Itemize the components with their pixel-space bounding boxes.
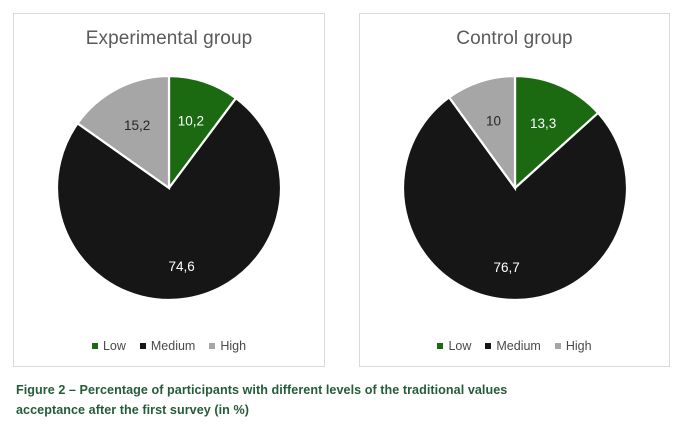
- legend-experimental: Low Medium High: [14, 340, 324, 353]
- legend-label-medium: Medium: [151, 340, 195, 353]
- chart-title-experimental: Experimental group: [14, 28, 324, 50]
- legend-label-high: High: [220, 340, 246, 353]
- figure-caption: Figure 2 – Percentage of participants wi…: [16, 381, 656, 420]
- chart-title-control: Control group: [360, 28, 669, 50]
- legend-label-high: High: [566, 340, 592, 353]
- legend-item-high[interactable]: High: [555, 340, 592, 353]
- pie-chart-experimental: 10,274,615,2: [51, 70, 287, 306]
- legend-item-high[interactable]: High: [209, 340, 246, 353]
- chart-card-experimental: Experimental group 10,274,615,2 Low Medi…: [13, 13, 325, 367]
- legend-label-low: Low: [103, 340, 126, 353]
- charts-row: Experimental group 10,274,615,2 Low Medi…: [0, 0, 680, 370]
- legend-control: Low Medium High: [360, 340, 669, 353]
- pie-chart-control: 13,376,710: [397, 70, 633, 306]
- figure-container: Experimental group 10,274,615,2 Low Medi…: [0, 0, 680, 429]
- legend-swatch-medium-icon: [485, 343, 491, 349]
- pie-slice-label-low: 13,3: [530, 116, 556, 131]
- legend-item-low[interactable]: Low: [437, 340, 471, 353]
- pie-slice-label-medium: 76,7: [493, 260, 519, 275]
- pie-slice-label-medium: 74,6: [168, 259, 194, 274]
- legend-swatch-low-icon: [437, 343, 443, 349]
- pie-slice-label-high: 15,2: [124, 118, 150, 133]
- pie-svg-control: 13,376,710: [397, 70, 633, 306]
- legend-item-low[interactable]: Low: [92, 340, 126, 353]
- legend-label-low: Low: [448, 340, 471, 353]
- legend-swatch-high-icon: [209, 343, 215, 349]
- legend-label-medium: Medium: [496, 340, 540, 353]
- figure-caption-line-2: acceptance after the first survey (in %): [16, 401, 656, 421]
- pie-svg-experimental: 10,274,615,2: [51, 70, 287, 306]
- figure-caption-line-1: Figure 2 – Percentage of participants wi…: [16, 381, 656, 401]
- legend-swatch-high-icon: [555, 343, 561, 349]
- legend-item-medium[interactable]: Medium: [140, 340, 195, 353]
- legend-swatch-low-icon: [92, 343, 98, 349]
- legend-item-medium[interactable]: Medium: [485, 340, 540, 353]
- pie-slice-label-low: 10,2: [178, 114, 204, 129]
- pie-slice-label-high: 10: [486, 114, 501, 129]
- chart-card-control: Control group 13,376,710 Low Medium High: [359, 13, 670, 367]
- legend-swatch-medium-icon: [140, 343, 146, 349]
